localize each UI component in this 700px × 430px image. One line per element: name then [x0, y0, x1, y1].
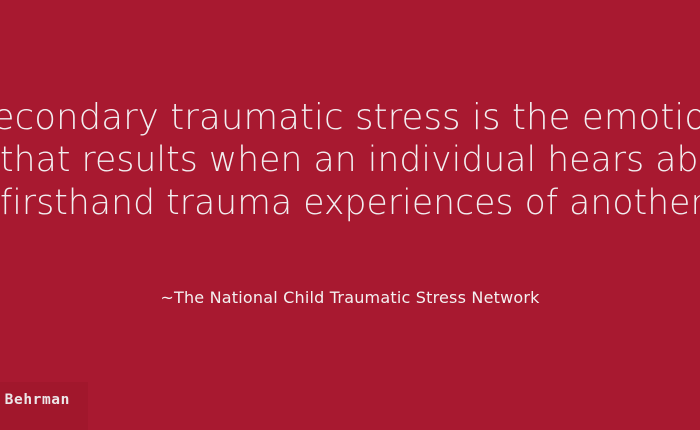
quote-text: Secondary traumatic stress is the emotio…	[0, 96, 700, 225]
quote-line-1: Secondary traumatic stress is the emotio…	[0, 96, 700, 139]
author-credit: n Behrman	[0, 392, 70, 408]
quote-line-2: that results when an individual hears ab…	[0, 139, 700, 182]
quote-line-3: firsthand trauma experiences of another.	[0, 182, 700, 225]
quote-attribution: ~The National Child Traumatic Stress Net…	[0, 288, 700, 307]
quote-slide: Secondary traumatic stress is the emotio…	[0, 0, 700, 430]
